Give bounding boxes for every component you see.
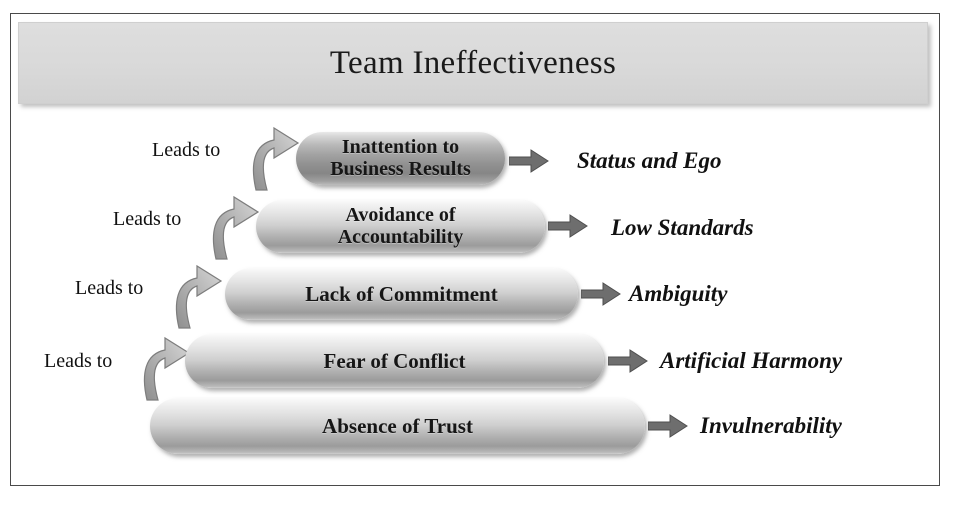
curved-arrow-icon-4 (131, 334, 193, 402)
right-arrow-icon-4 (608, 349, 648, 373)
curved-arrow-icon-1 (240, 124, 302, 192)
pyramid-bar-1[interactable]: Inattention to Business Results (296, 132, 505, 185)
pyramid-bar-5-label: Absence of Trust (312, 415, 483, 437)
curved-arrow-icon-3 (163, 262, 225, 330)
pyramid-bar-2-line2: Accountability (338, 227, 464, 248)
pyramid-bar-3[interactable]: Lack of Commitment (225, 268, 578, 320)
leads-to-label-3: Leads to (75, 277, 143, 300)
consequence-label-1: Status and Ego (577, 148, 721, 174)
pyramid-bar-5[interactable]: Absence of Trust (150, 398, 645, 454)
leads-to-label-4: Leads to (44, 350, 112, 373)
right-arrow-icon-3 (581, 282, 621, 306)
curved-arrow-icon-2 (200, 193, 262, 261)
diagram-canvas: Team Ineffectiveness Leads to Inattentio… (0, 0, 955, 505)
right-arrow-icon-2 (548, 214, 588, 238)
pyramid-bar-2-label: Avoidance of Accountability (328, 205, 474, 247)
pyramid-bar-1-line1: Inattention to (330, 137, 471, 158)
pyramid-bar-4[interactable]: Fear of Conflict (185, 334, 604, 388)
consequence-label-3: Ambiguity (629, 281, 727, 307)
right-arrow-icon-5 (648, 414, 688, 438)
right-arrow-icon-1 (509, 149, 549, 173)
consequence-label-2: Low Standards (611, 215, 754, 241)
title-banner: Team Ineffectiveness (18, 22, 928, 104)
pyramid-bar-2-line1: Avoidance of (338, 205, 464, 226)
consequence-label-5: Invulnerability (700, 413, 842, 439)
pyramid-bar-2[interactable]: Avoidance of Accountability (256, 200, 545, 253)
leads-to-label-2: Leads to (113, 208, 181, 231)
leads-to-label-1: Leads to (152, 139, 220, 162)
pyramid-bar-3-label: Lack of Commitment (295, 283, 507, 305)
pyramid-bar-1-line2: Business Results (330, 159, 471, 180)
page-title: Team Ineffectiveness (330, 47, 616, 80)
pyramid-bar-4-label: Fear of Conflict (314, 350, 476, 372)
pyramid-bar-1-label: Inattention to Business Results (320, 137, 481, 179)
consequence-label-4: Artificial Harmony (660, 348, 842, 374)
